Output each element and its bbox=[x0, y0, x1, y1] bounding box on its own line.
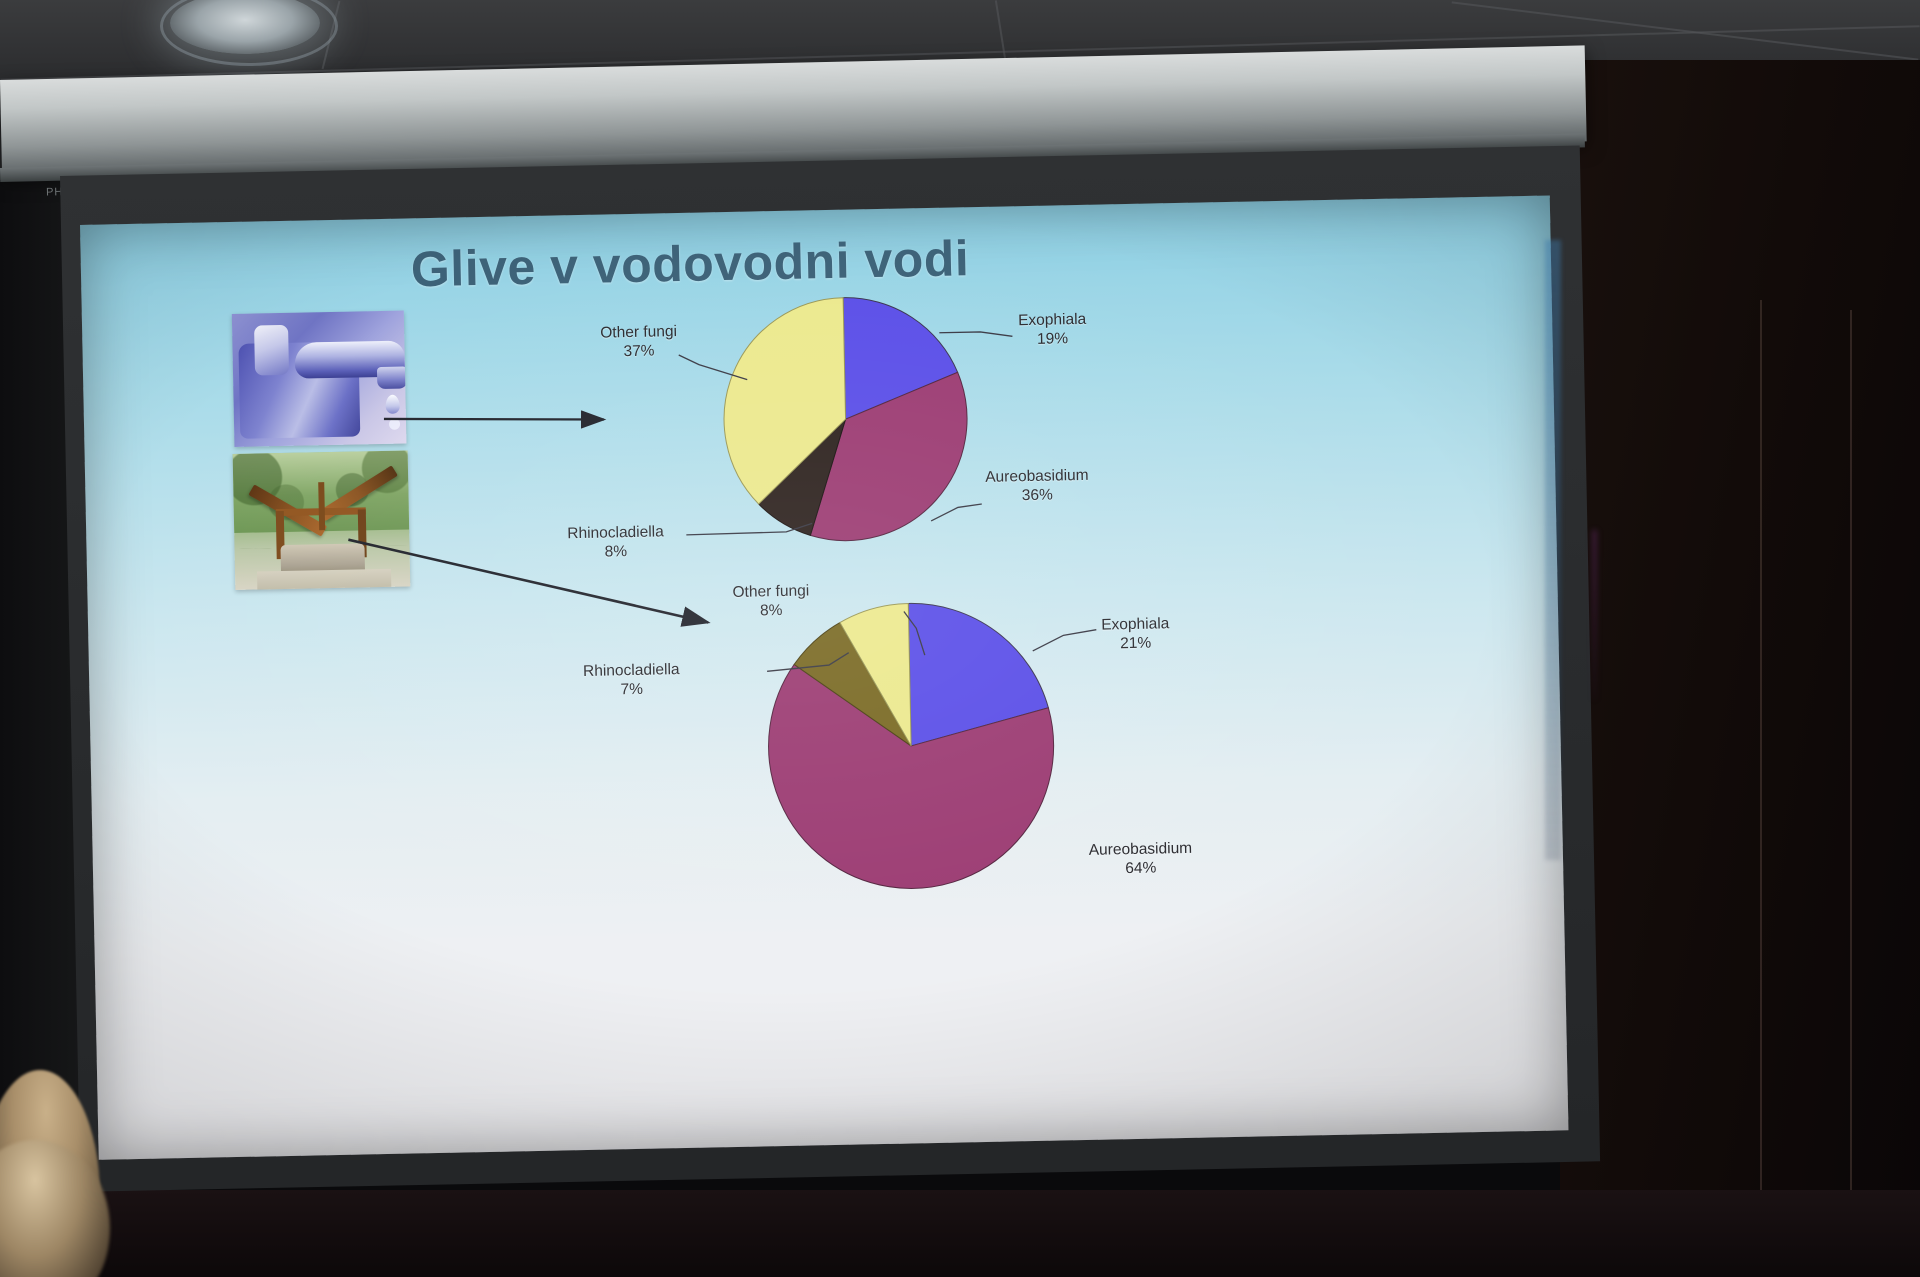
pie-slice-other-fungi bbox=[722, 298, 848, 505]
well-path bbox=[257, 569, 391, 590]
label-aureobasidium-bottom-pct: 64% bbox=[1089, 859, 1193, 880]
label-other-fungi-top: Other fungi 37% bbox=[600, 323, 677, 362]
stone-well-photo bbox=[233, 450, 411, 589]
label-exophiala-top-name: Exophiala bbox=[1018, 311, 1086, 329]
dripping-tap-photo bbox=[232, 311, 407, 447]
leader-other-fungi-bottom bbox=[904, 611, 925, 655]
pie-slice-exophiala bbox=[843, 295, 958, 419]
pie-slice-aureobasidium bbox=[807, 372, 969, 541]
label-other-fungi-bottom: Other fungi 8% bbox=[732, 582, 809, 621]
label-rhinocladiella-top: Rhinocladiella 8% bbox=[567, 523, 664, 563]
label-other-fungi-top-name: Other fungi bbox=[600, 323, 677, 342]
screen-edge-glare bbox=[1592, 530, 1597, 700]
leader-exophiala-top bbox=[939, 331, 1012, 337]
pie-slice-exophiala bbox=[908, 601, 1049, 746]
screen-edge-glare bbox=[1545, 240, 1561, 860]
leader-aureobasidium-top bbox=[931, 504, 982, 521]
label-exophiala-bottom: Exophiala 21% bbox=[1101, 615, 1170, 654]
door-seam bbox=[1850, 310, 1852, 1190]
leader-rhinocladiella-top bbox=[686, 523, 812, 535]
label-rhinocladiella-bottom-name: Rhinocladiella bbox=[583, 661, 680, 680]
arrow-tap-to-top-chart bbox=[384, 415, 604, 424]
wall-right-dark-door bbox=[1560, 60, 1920, 1277]
page-title: Glive v vodovodni vodi bbox=[410, 229, 969, 298]
ceiling-grid-line bbox=[995, 0, 1007, 66]
label-exophiala-top: Exophiala 19% bbox=[1018, 311, 1087, 350]
label-aureobasidium-bottom: Aureobasidium 64% bbox=[1089, 840, 1193, 880]
label-exophiala-top-pct: 19% bbox=[1018, 330, 1086, 350]
label-aureobasidium-top-pct: 36% bbox=[985, 486, 1089, 507]
wall-bottom bbox=[0, 1190, 1920, 1277]
label-exophiala-bottom-pct: 21% bbox=[1101, 634, 1169, 654]
pie-slice-other-fungi bbox=[840, 603, 912, 747]
label-aureobasidium-top-name: Aureobasidium bbox=[985, 467, 1089, 486]
well-ridge-post bbox=[318, 482, 325, 530]
door-seam bbox=[1760, 300, 1762, 1200]
label-rhinocladiella-bottom-pct: 7% bbox=[583, 680, 680, 701]
leader-rhinocladiella-bottom bbox=[767, 653, 849, 672]
label-other-fungi-bottom-name: Other fungi bbox=[732, 582, 809, 601]
tap-water-fungi-pie bbox=[722, 295, 970, 543]
leader-exophiala-bottom bbox=[1032, 630, 1096, 651]
well-water-fungi-pie bbox=[766, 601, 1057, 892]
label-rhinocladiella-top-name: Rhinocladiella bbox=[567, 523, 664, 542]
water-drop bbox=[385, 395, 399, 414]
tap-nozzle bbox=[377, 366, 407, 389]
pie-slice-rhinocladiella bbox=[757, 419, 848, 536]
label-other-fungi-top-pct: 37% bbox=[600, 342, 677, 362]
presentation-slide: Glive v vodovodni vodi bbox=[80, 195, 1568, 1159]
label-aureobasidium-bottom-name: Aureobasidium bbox=[1089, 840, 1193, 859]
leader-other-fungi-top bbox=[679, 354, 748, 381]
water-drop bbox=[389, 419, 400, 430]
label-exophiala-bottom-name: Exophiala bbox=[1101, 615, 1169, 633]
label-rhinocladiella-top-pct: 8% bbox=[568, 542, 665, 563]
label-rhinocladiella-bottom: Rhinocladiella 7% bbox=[583, 661, 680, 701]
projected-slide-photo: PHILIPS Glive v vodovodni vodi bbox=[0, 0, 1920, 1277]
pie-slice-aureobasidium bbox=[767, 659, 1056, 891]
pie-slice-rhinocladiella bbox=[793, 621, 911, 748]
tap-handle bbox=[254, 325, 289, 376]
label-aureobasidium-top: Aureobasidium 36% bbox=[985, 467, 1089, 507]
label-other-fungi-bottom-pct: 8% bbox=[733, 601, 810, 621]
